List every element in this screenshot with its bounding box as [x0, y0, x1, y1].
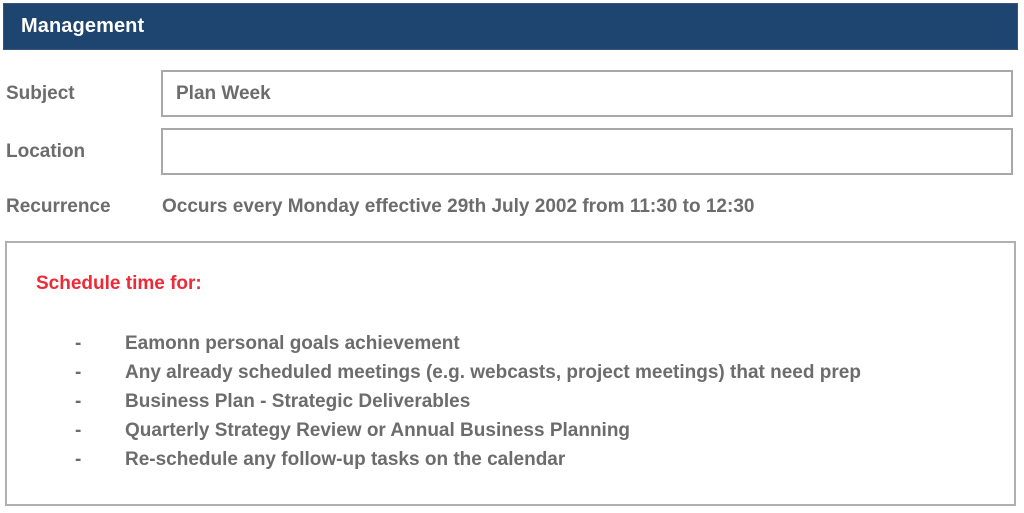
list-item: - Any already scheduled meetings (e.g. w… — [7, 358, 1014, 387]
list-item-label: Eamonn personal goals achievement — [125, 329, 460, 358]
recurrence-row: Recurrence Occurs every Monday effective… — [0, 196, 1024, 224]
notes-list: - Eamonn personal goals achievement - An… — [7, 329, 1014, 474]
subject-label: Subject — [6, 83, 75, 105]
subject-input[interactable]: Plan Week — [161, 70, 1013, 117]
page-title: Management — [21, 15, 144, 38]
bullet-dash-icon: - — [75, 329, 81, 358]
location-row: Location — [0, 128, 1024, 176]
bullet-dash-icon: - — [75, 358, 81, 387]
subject-row: Subject Plan Week — [0, 70, 1024, 118]
bullet-dash-icon: - — [75, 445, 81, 474]
list-item-label: Re-schedule any follow-up tasks on the c… — [125, 445, 565, 474]
list-item: - Re-schedule any follow-up tasks on the… — [7, 445, 1014, 474]
list-item-label: Any already scheduled meetings (e.g. web… — [125, 358, 861, 387]
notes-body[interactable]: Schedule time for: - Eamonn personal goa… — [5, 241, 1016, 506]
list-item-label: Business Plan - Strategic Deliverables — [125, 387, 470, 416]
window-title-bar: Management — [3, 3, 1018, 50]
location-input[interactable] — [161, 128, 1013, 175]
recurrence-label: Recurrence — [6, 196, 111, 218]
list-item: - Quarterly Strategy Review or Annual Bu… — [7, 416, 1014, 445]
subject-value: Plan Week — [176, 83, 271, 105]
notes-heading: Schedule time for: — [36, 273, 202, 295]
list-item-label: Quarterly Strategy Review or Annual Busi… — [125, 416, 630, 445]
bullet-dash-icon: - — [75, 416, 81, 445]
recurrence-value: Occurs every Monday effective 29th July … — [162, 196, 754, 218]
location-label: Location — [6, 141, 85, 163]
list-item: - Business Plan - Strategic Deliverables — [7, 387, 1014, 416]
list-item: - Eamonn personal goals achievement — [7, 329, 1014, 358]
bullet-dash-icon: - — [75, 387, 81, 416]
